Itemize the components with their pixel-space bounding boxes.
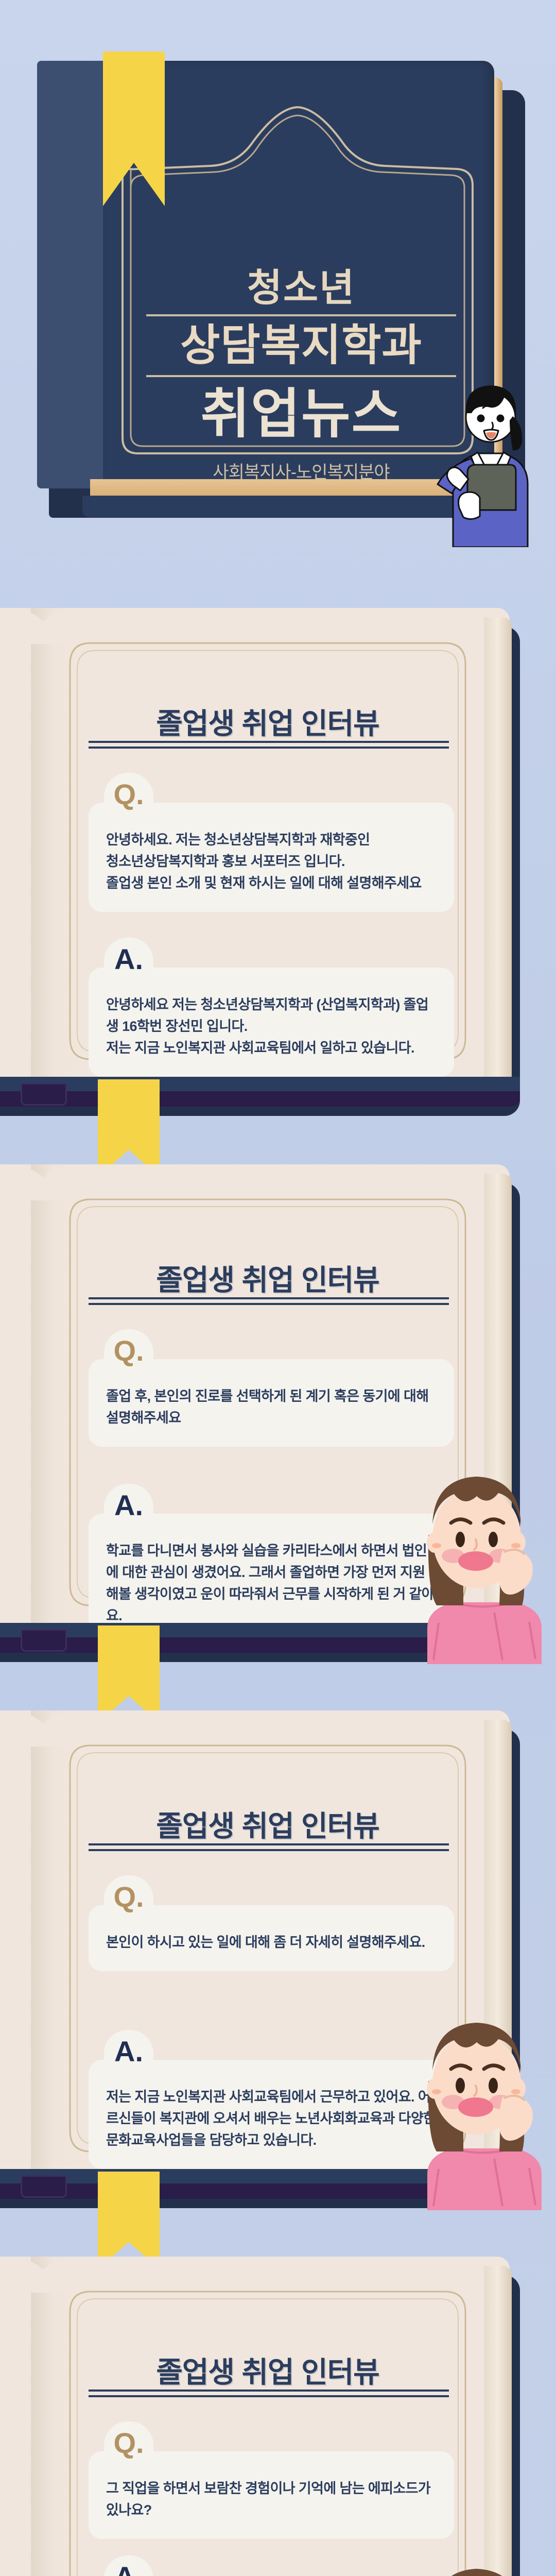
presenter-character-illustration [422,355,556,547]
cover-section: 청소년 상담복지학과 취업뉴스 사회복지사-노인복지분야 [0,0,556,546]
cover-divider-top [146,314,456,316]
answer-badge: A. [104,1484,153,1528]
interview-panel: 졸업생 취업 인터뷰 Q. 본인이 하시고 있는 일에 대해 좀 더 자세히 설… [0,1710,556,2226]
answer-text: 저는 지금 노인복지관 사회교육팀에서 근무하고 있어요. 어르신들이 복지관에… [89,2060,454,2169]
page-gutter-curve [0,2257,93,2293]
listener-character-illustration [407,2550,556,2576]
bookmark-ribbon-icon [98,1079,160,1177]
answer-badge: A. [104,938,153,982]
page-gutter-curve [0,608,93,644]
book-clasp [21,2175,67,2198]
interview-panel: 졸업생 취업 인터뷰 Q. 졸업 후, 본인의 진로를 선택하게 된 계기 혹은… [0,1164,556,1680]
infographic-page: 청소년 상담복지학과 취업뉴스 사회복지사-노인복지분야 [0,0,556,2576]
page-edge [484,617,512,1088]
cover-title-line1: 청소년 [124,268,479,308]
interview-panel: 졸업생 취업 인터뷰 Q. 그 직업을 하면서 보람찬 경험이나 기억에 남는 … [0,2257,556,2576]
page-gutter-curve [0,1164,93,1200]
cover-divider-bottom [146,375,456,377]
card-title-divider [89,1843,449,1851]
card-title: 졸업생 취업 인터뷰 [67,2349,468,2391]
listener-character-illustration [407,1458,556,1664]
card-title-divider [89,741,449,749]
card-title: 졸업생 취업 인터뷰 [67,701,468,742]
book-clasp [21,1083,67,1106]
card-title-divider [89,2389,449,2397]
page-gutter-curve [0,1710,93,1747]
bookmark-ribbon-icon [98,2172,160,2269]
question-badge: Q. [104,1329,153,1374]
interview-panel: 졸업생 취업 인터뷰 Q. 안녕하세요. 저는 청소년상담복지학과 재학중인 청… [0,608,556,1133]
card-title-divider [89,1297,449,1305]
question-badge: Q. [104,773,153,817]
card-title: 졸업생 취업 인터뷰 [67,1803,468,1845]
bookmark-ribbon-icon [98,1625,160,1723]
card-title: 졸업생 취업 인터뷰 [67,1257,468,1299]
listener-character-illustration [407,2004,556,2210]
book-clasp [21,1629,67,1652]
answer-text: 안녕하세요 저는 청소년상담복지학과 (산업복지학과) 졸업생 16학번 장선민… [89,968,454,1077]
page-footer-dark [0,1091,520,1107]
question-badge: Q. [104,1875,153,1920]
question-badge: Q. [104,2421,153,2466]
answer-badge: A. [104,2030,153,2074]
page-edge [484,2266,512,2576]
question-text: 안녕하세요. 저는 청소년상담복지학과 재학중인 청소년상담복지학과 홍보 서포… [89,803,454,912]
